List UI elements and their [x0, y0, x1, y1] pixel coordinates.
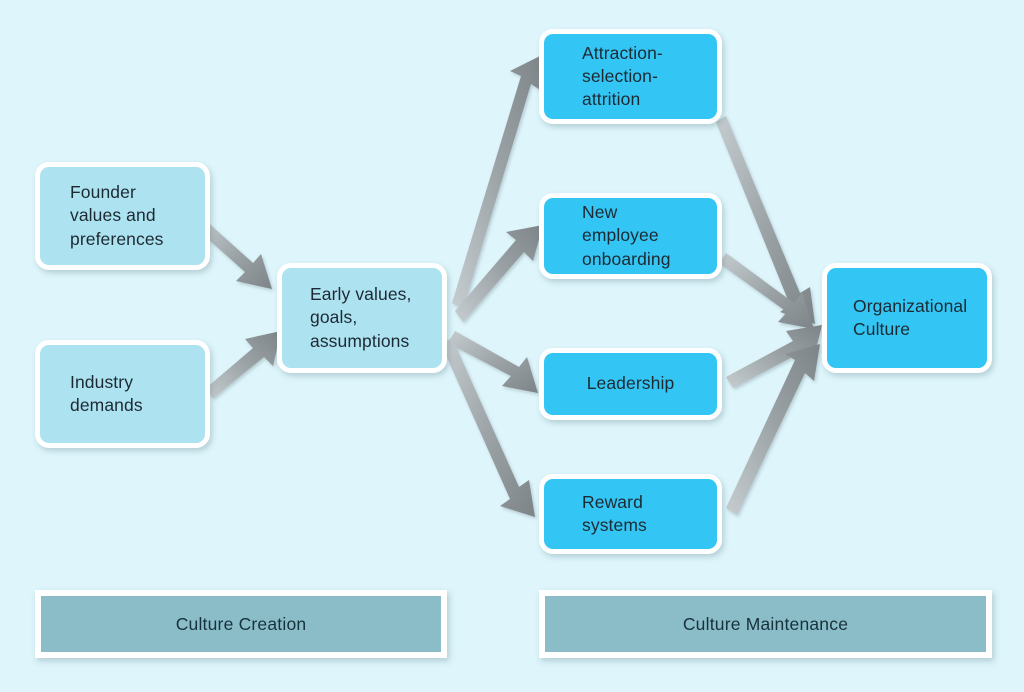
arrow-early-to-onboarding — [455, 225, 543, 322]
node-new-employee-onboarding-label: New employee onboarding — [544, 201, 717, 271]
node-reward-systems-label: Reward systems — [544, 491, 717, 538]
node-organizational-culture-label: Organizational Culture — [827, 295, 987, 342]
banner-culture-creation: Culture Creation — [35, 590, 447, 658]
culture-diagram: Founder values and preferences Industry … — [0, 0, 1024, 692]
node-attraction-selection-attrition[interactable]: Attraction- selection- attrition — [539, 29, 722, 124]
node-industry-demands-label: Industry demands — [40, 371, 205, 418]
banner-culture-creation-label: Culture Creation — [176, 614, 307, 635]
arrow-onboarding-to-orgculture — [719, 253, 814, 329]
arrow-asa-to-orgculture — [716, 116, 815, 324]
node-attraction-selection-attrition-label: Attraction- selection- attrition — [544, 42, 717, 112]
node-leadership-label: Leadership — [544, 372, 717, 395]
node-leadership[interactable]: Leadership — [539, 348, 722, 420]
arrow-early-to-reward — [441, 338, 535, 517]
arrow-early-to-leadership — [448, 331, 538, 393]
node-industry-demands[interactable]: Industry demands — [35, 340, 210, 448]
node-early-values[interactable]: Early values, goals, assumptions — [277, 263, 447, 373]
node-reward-systems[interactable]: Reward systems — [539, 474, 722, 554]
banner-culture-maintenance-label: Culture Maintenance — [683, 614, 848, 635]
banner-culture-maintenance: Culture Maintenance — [539, 590, 992, 658]
node-organizational-culture[interactable]: Organizational Culture — [822, 263, 992, 373]
node-new-employee-onboarding[interactable]: New employee onboarding — [539, 193, 722, 279]
node-founder-values-label: Founder values and preferences — [40, 181, 205, 251]
node-early-values-label: Early values, goals, assumptions — [282, 283, 442, 353]
node-founder-values[interactable]: Founder values and preferences — [35, 162, 210, 270]
arrow-leadership-to-orgculture — [726, 325, 822, 388]
arrow-early-to-asa — [452, 54, 544, 309]
arrow-industry-to-early — [205, 331, 281, 398]
arrow-reward-to-orgculture — [726, 344, 820, 515]
